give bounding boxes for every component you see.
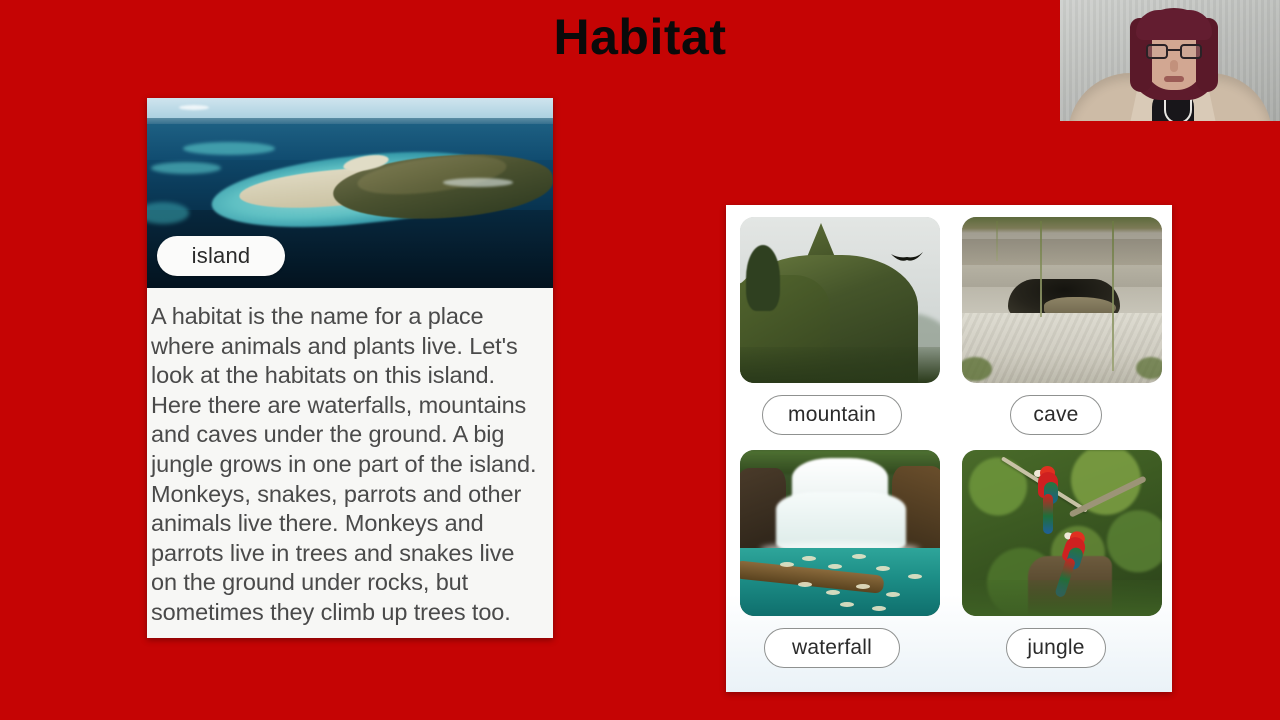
mountain-photo bbox=[740, 217, 940, 383]
cave-photo bbox=[962, 217, 1162, 383]
habitat-label-jungle: jungle bbox=[1006, 628, 1106, 668]
waterfall-photo bbox=[740, 450, 940, 616]
habitat-item-mountain[interactable]: mountain bbox=[740, 217, 940, 435]
hair-fringe bbox=[1136, 10, 1212, 40]
habitat-item-waterfall[interactable]: waterfall bbox=[740, 450, 940, 668]
glasses-icon bbox=[1146, 44, 1202, 59]
habitat-grid: mountain cave bbox=[726, 205, 1172, 692]
island-aerial-photo: island bbox=[147, 98, 553, 288]
habitat-item-cave[interactable]: cave bbox=[962, 217, 1162, 435]
habitat-item-jungle[interactable]: jungle bbox=[962, 450, 1162, 668]
habitat-thumbnail-grid-card: mountain cave bbox=[726, 205, 1172, 692]
presenter-webcam-feed[interactable] bbox=[1060, 0, 1280, 121]
habitat-label-mountain: mountain bbox=[762, 395, 902, 435]
presenter-nose bbox=[1170, 60, 1178, 72]
presentation-slide: Habitat bbox=[0, 0, 1280, 720]
island-label-pill: island bbox=[157, 236, 285, 276]
presenter-mouth bbox=[1164, 76, 1184, 82]
habitat-label-waterfall: waterfall bbox=[764, 628, 900, 668]
habitat-description-text: A habitat is the name for a place where … bbox=[147, 288, 553, 638]
habitat-label-cave: cave bbox=[1010, 395, 1102, 435]
jungle-photo bbox=[962, 450, 1162, 616]
island-info-card: island A habitat is the name for a place… bbox=[147, 98, 553, 638]
macaw-icon bbox=[1038, 472, 1064, 534]
bird-icon bbox=[890, 251, 924, 265]
